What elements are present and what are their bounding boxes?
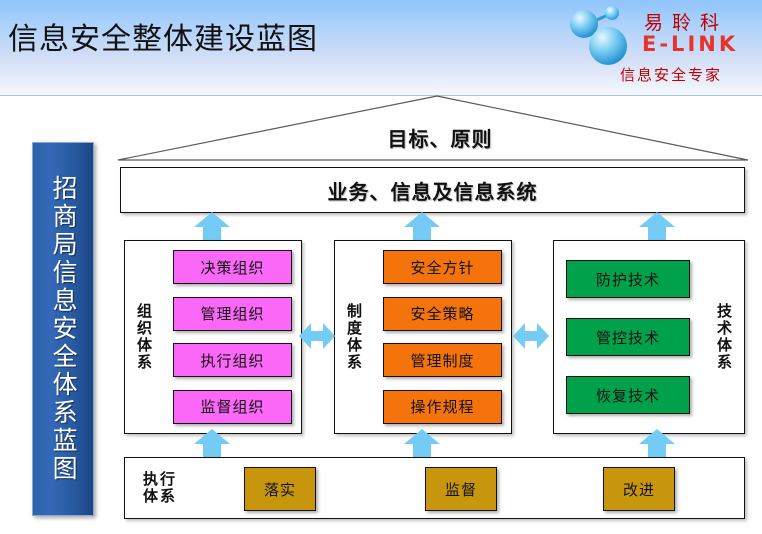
execution-row-label: 执行 体系 [143, 471, 177, 506]
chip-execution-org[interactable]: 执行组织 [173, 343, 292, 377]
chip-management-org[interactable]: 管理组织 [173, 297, 292, 331]
chip-control-tech[interactable]: 管控技术 [566, 318, 690, 356]
arrow-left-right-icon [298, 319, 336, 353]
pillar-organization-label: 组织体系 [134, 303, 155, 371]
exec-box-implement[interactable]: 落实 [244, 467, 316, 511]
execution-label-line1: 执行 [143, 471, 177, 488]
pillar-technology-label: 技术体系 [714, 303, 735, 371]
chip-recovery-tech[interactable]: 恢复技术 [566, 376, 690, 414]
side-banner-label: 招商局信息安全体系蓝图 [50, 175, 76, 483]
logo-tagline: 信息安全专家 [620, 64, 722, 85]
exec-box-improve[interactable]: 改进 [603, 467, 675, 511]
pillar-policy-items: 安全方针 安全策略 管理制度 操作规程 [383, 250, 502, 424]
chip-management-system[interactable]: 管理制度 [383, 343, 502, 377]
pillar-organization: 组织体系 决策组织 管理组织 执行组织 监督组织 [124, 240, 302, 434]
execution-row: 执行 体系 落实 监督 改进 [124, 457, 745, 519]
pillar-policy: 制度体系 安全方针 安全策略 管理制度 操作规程 [334, 240, 512, 434]
molecule-icon [564, 4, 638, 70]
chip-supervision-org[interactable]: 监督组织 [173, 390, 292, 424]
chip-security-strategy[interactable]: 安全策略 [383, 297, 502, 331]
pillar-policy-label: 制度体系 [344, 303, 365, 371]
chip-security-guideline[interactable]: 安全方针 [383, 250, 502, 284]
exec-box-supervise[interactable]: 监督 [425, 467, 497, 511]
side-banner: 招商局信息安全体系蓝图 [32, 142, 94, 516]
roof-label: 目标、原则 [330, 123, 550, 152]
logo-brand-text: E-LINK [642, 32, 738, 56]
pillar-technology-items: 防护技术 管控技术 恢复技术 [566, 250, 690, 424]
arrow-left-right-icon [512, 319, 550, 353]
chip-decision-org[interactable]: 决策组织 [173, 250, 292, 284]
business-bar: 业务、信息及信息系统 [120, 167, 745, 213]
execution-label-line2: 体系 [143, 488, 177, 505]
pillar-technology: 技术体系 防护技术 管控技术 恢复技术 [553, 240, 745, 434]
page-header: 信息安全整体建设蓝图 易聆科 E-LINK 信 [0, 0, 762, 96]
company-logo: 易聆科 E-LINK 信息安全专家 [560, 0, 756, 95]
chip-protection-tech[interactable]: 防护技术 [566, 260, 690, 298]
business-bar-label: 业务、信息及信息系统 [328, 176, 538, 205]
page-title: 信息安全整体建设蓝图 [8, 14, 318, 58]
chip-operating-procedure[interactable]: 操作规程 [383, 390, 502, 424]
pillar-organization-items: 决策组织 管理组织 执行组织 监督组织 [173, 250, 292, 424]
logo-company-name: 易聆科 [644, 8, 728, 35]
